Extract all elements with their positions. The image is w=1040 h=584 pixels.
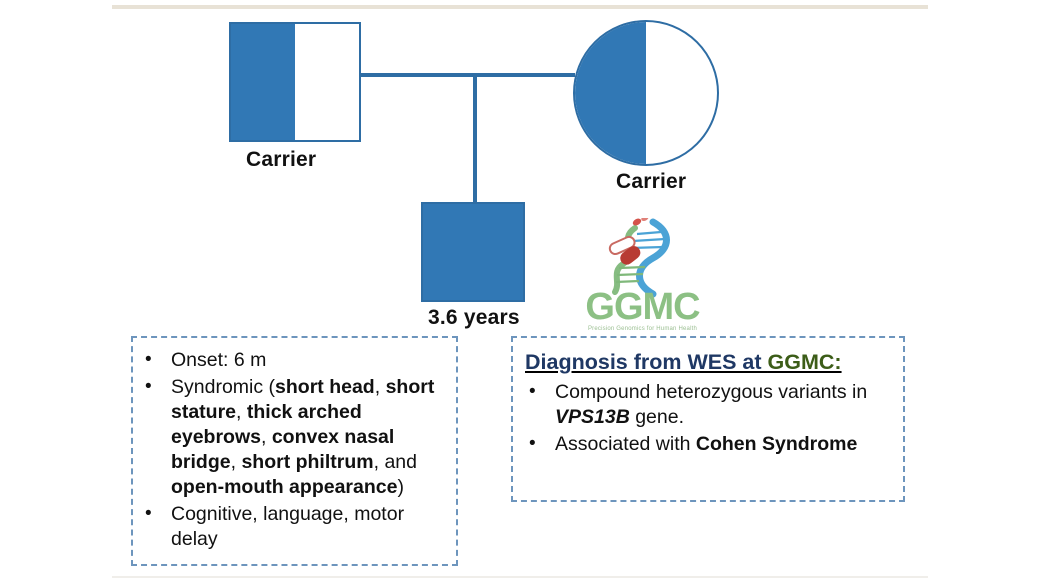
- pedigree-mother-label: Carrier: [616, 170, 686, 194]
- mother-half-fill: [575, 22, 646, 164]
- slide-canvas: Carrier Carrier 3.6 years: [0, 0, 1040, 584]
- clinical-item: Onset: 6 m: [137, 348, 448, 373]
- diagnosis-heading-navy: Diagnosis from WES at: [525, 350, 768, 374]
- clinical-item: Cognitive, language, motor delay: [137, 502, 448, 552]
- diagnosis-item-text: Compound heterozygous variants in VPS13B…: [555, 381, 867, 428]
- ggmc-tagline: Precision Genomics for Human Health: [575, 326, 710, 332]
- diagnosis-box: Diagnosis from WES at GGMC: Compound het…: [511, 336, 905, 502]
- clinical-item: Syndromic (short head, short stature, th…: [137, 375, 448, 500]
- pedigree-father-square[interactable]: [229, 22, 361, 142]
- clinical-item-text: Cognitive, language, motor delay: [171, 503, 404, 550]
- pedigree-proband-square[interactable]: [421, 202, 525, 302]
- pedigree-mother-circle[interactable]: [573, 20, 719, 166]
- father-half-fill: [231, 24, 295, 140]
- descent-line: [473, 73, 477, 203]
- diagnosis-heading-green: GGMC:: [768, 350, 842, 374]
- diagnosis-item-text: Associated with Cohen Syndrome: [555, 433, 857, 455]
- diagnosis-list: Compound heterozygous variants in VPS13B…: [521, 380, 893, 457]
- diagnosis-heading: Diagnosis from WES at GGMC:: [525, 350, 893, 375]
- ggmc-wordmark: GGMC: [575, 288, 710, 326]
- pill-capsule-icon: [608, 218, 650, 267]
- pedigree-father-label: Carrier: [246, 148, 316, 172]
- mating-line: [361, 73, 575, 77]
- diagnosis-item: Compound heterozygous variants in VPS13B…: [521, 380, 893, 430]
- diagnosis-item: Associated with Cohen Syndrome: [521, 432, 893, 457]
- clinical-features-box: Onset: 6 m Syndromic (short head, short …: [131, 336, 458, 566]
- pedigree-proband-label: 3.6 years: [428, 306, 520, 330]
- clinical-features-list: Onset: 6 m Syndromic (short head, short …: [137, 348, 448, 552]
- clinical-item-text: Syndromic (short head, short stature, th…: [171, 376, 434, 498]
- ggmc-logo: GGMC Precision Genomics for Human Health: [575, 218, 710, 338]
- bottom-divider: [112, 576, 928, 578]
- top-divider: [112, 5, 928, 9]
- clinical-item-text: Onset: 6 m: [171, 349, 266, 371]
